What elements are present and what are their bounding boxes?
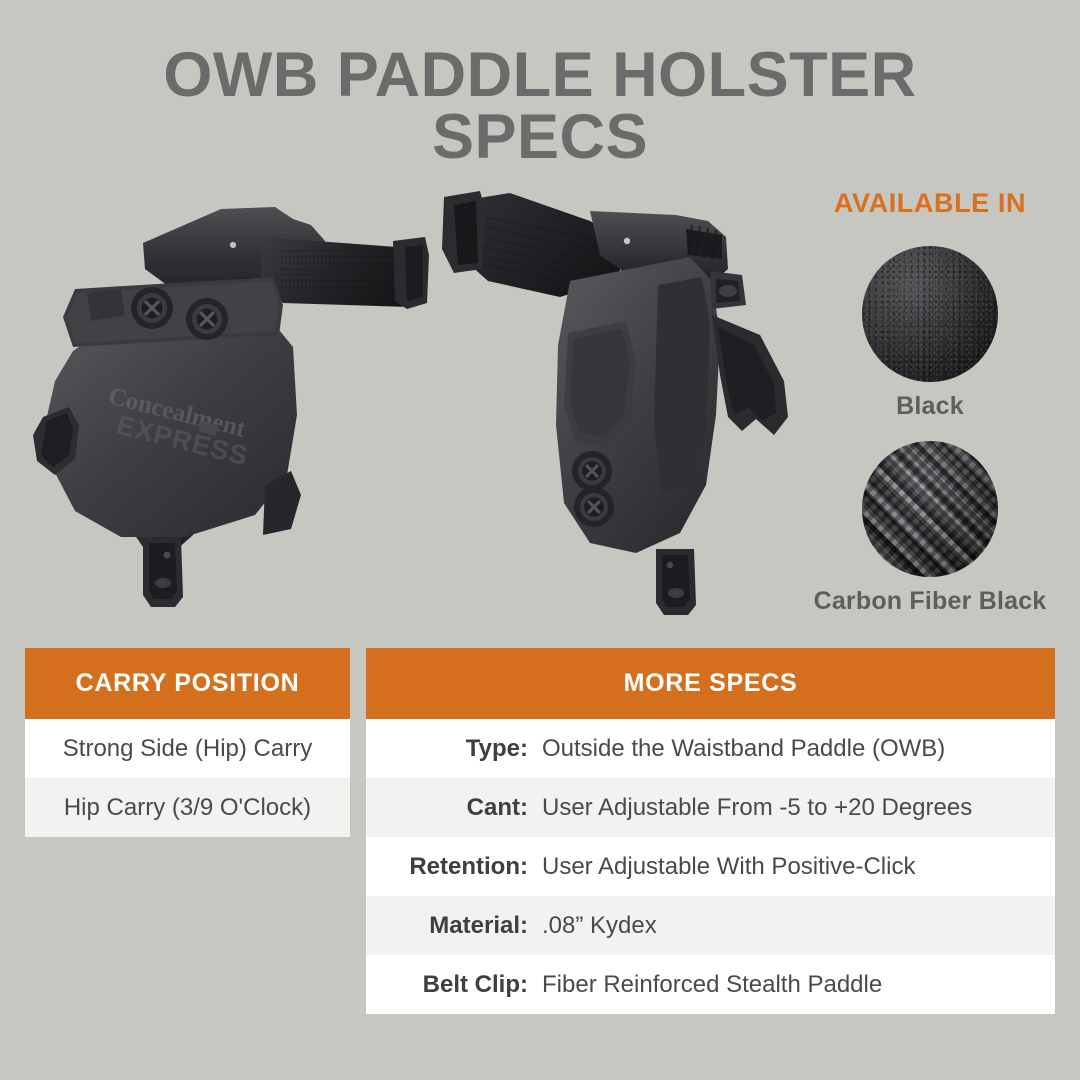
texture-swatch-carbon-fiber-icon[interactable] [862,441,998,577]
swatch-item-carbon-fiber[interactable]: Carbon Fiber Black [780,441,1080,616]
table-row: Retention: User Adjustable With Positive… [366,837,1055,896]
carry-position-table: CARRY POSITION Strong Side (Hip) Carry H… [25,648,350,837]
table-row: Strong Side (Hip) Carry [25,719,350,778]
spec-value: .08” Kydex [542,912,657,940]
swatch-item-black[interactable]: Black [780,246,1080,421]
retention-screw-upper [131,287,173,329]
swatch-label-carbon-fiber: Carbon Fiber Black [780,587,1080,616]
table-row: Hip Carry (3/9 O'Clock) [25,778,350,837]
spec-label: Belt Clip: [366,971,542,999]
page-title-line-2: SPECS [0,106,1080,168]
table-row: Cant: User Adjustable From -5 to +20 Deg… [366,778,1055,837]
spec-label: Type: [366,735,542,763]
available-in-panel: AVAILABLE IN Black Carbon Fiber Black [780,188,1080,628]
retention-screw-upper [572,451,612,491]
spec-value: Outside the Waistband Paddle (OWB) [542,735,945,763]
holster-front-view-image: Concealment EXPRESS [25,185,445,625]
available-in-heading: AVAILABLE IN [780,188,1080,219]
spec-label: Cant: [366,794,542,822]
holster-rear-view-image [440,185,820,625]
table-row: Belt Clip: Fiber Reinforced Stealth Padd… [366,955,1055,1014]
retention-screw-lower [186,298,228,340]
retention-screw-lower [574,487,614,527]
spec-value: User Adjustable With Positive-Click [542,853,915,881]
spec-value: Fiber Reinforced Stealth Paddle [542,971,882,999]
spec-label: Retention: [366,853,542,881]
texture-swatch-black-icon[interactable] [862,246,998,382]
page-title-line-1: OWB PADDLE HOLSTER [0,44,1080,106]
more-specs-table: MORE SPECS Type: Outside the Waistband P… [366,648,1055,1014]
table-row: Material: .08” Kydex [366,896,1055,955]
page-title: OWB PADDLE HOLSTER SPECS [0,44,1080,168]
spec-label: Material: [366,912,542,940]
spec-value: User Adjustable From -5 to +20 Degrees [542,794,972,822]
swatch-label-black: Black [780,392,1080,421]
carry-position-table-header: CARRY POSITION [25,648,350,719]
more-specs-table-header: MORE SPECS [366,648,1055,719]
table-row: Type: Outside the Waistband Paddle (OWB) [366,719,1055,778]
